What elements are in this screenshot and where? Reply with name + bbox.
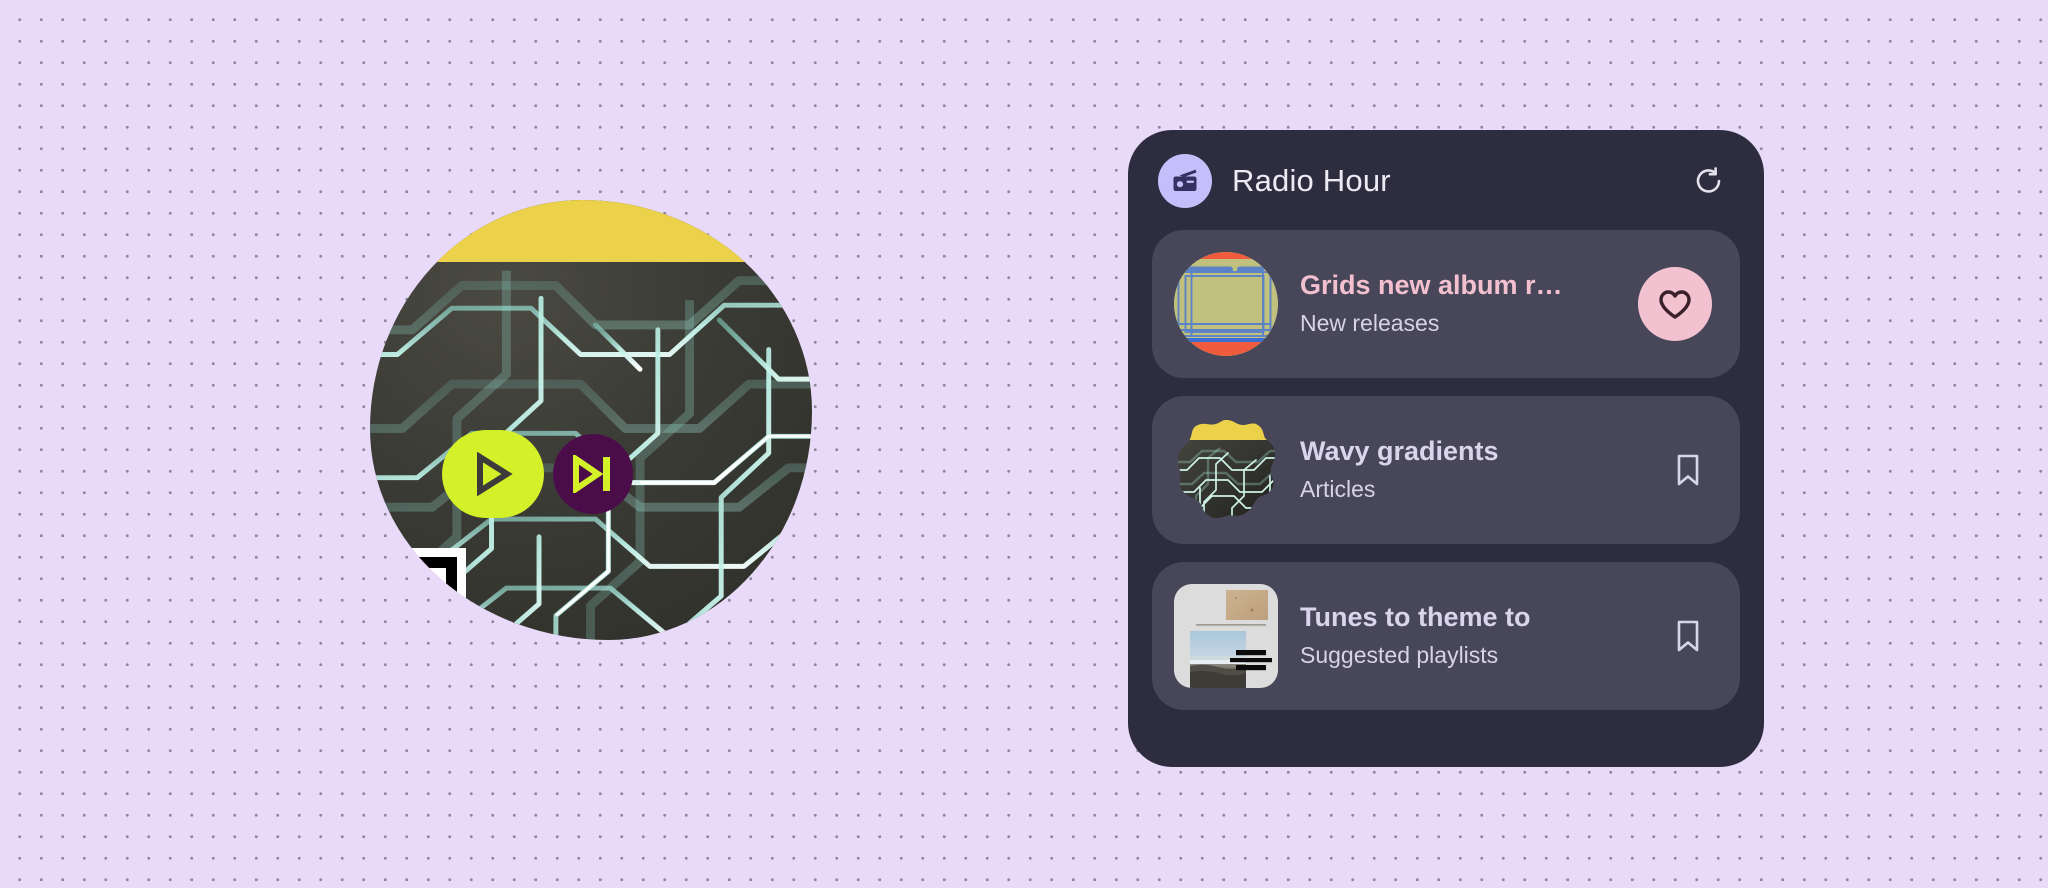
wavy-gradients-thumbnail	[1174, 418, 1278, 522]
list-item[interactable]: Tunes to theme to Suggested playlists	[1152, 562, 1740, 710]
artwork-square-inner-frame	[411, 557, 457, 637]
thumb-white-square	[1181, 500, 1195, 522]
refresh-icon	[1693, 165, 1725, 197]
page-title: Radio Hour	[1232, 163, 1391, 199]
radio-list: Grids new album r… New releases	[1152, 230, 1740, 710]
play-triangle-icon	[472, 452, 514, 496]
list-item[interactable]: Grids new album r… New releases	[1152, 230, 1740, 378]
skip-next-button[interactable]	[553, 434, 633, 514]
radio-icon	[1170, 166, 1200, 196]
list-item-subtitle: Articles	[1300, 473, 1652, 506]
play-button[interactable]	[442, 430, 544, 518]
radio-hour-card: Radio Hour	[1128, 130, 1764, 767]
artwork-white-square	[402, 548, 466, 640]
card-header: Radio Hour	[1152, 138, 1740, 224]
radio-badge	[1158, 154, 1212, 208]
list-item-subtitle: New releases	[1300, 307, 1626, 340]
list-item-text: Wavy gradients Articles	[1300, 434, 1652, 506]
list-item-text: Grids new album r… New releases	[1300, 268, 1626, 340]
bookmark-outline-icon	[1674, 453, 1702, 487]
heart-outline-icon	[1658, 289, 1692, 320]
grids-artwork-graphic	[1174, 252, 1278, 356]
list-item-title: Tunes to theme to	[1300, 600, 1652, 635]
artwork-blob-shape	[370, 200, 812, 640]
wavy-gradients-graphic	[1174, 418, 1278, 522]
list-item-text: Tunes to theme to Suggested playlists	[1300, 600, 1652, 672]
list-item-title: Wavy gradients	[1300, 434, 1652, 469]
skip-next-icon	[571, 455, 615, 493]
grids-album-thumbnail	[1174, 252, 1278, 356]
bookmark-button[interactable]	[1664, 446, 1712, 494]
list-item[interactable]: Wavy gradients Articles	[1152, 396, 1740, 544]
tunes-collage-graphic	[1174, 584, 1278, 688]
album-artwork	[370, 200, 850, 640]
like-button[interactable]	[1638, 267, 1712, 341]
list-item-subtitle: Suggested playlists	[1300, 639, 1652, 672]
bookmark-button[interactable]	[1664, 612, 1712, 660]
refresh-button[interactable]	[1686, 158, 1732, 204]
tunes-collage-thumbnail	[1174, 584, 1278, 688]
bookmark-outline-icon	[1674, 619, 1702, 653]
list-item-title: Grids new album r…	[1300, 268, 1626, 303]
